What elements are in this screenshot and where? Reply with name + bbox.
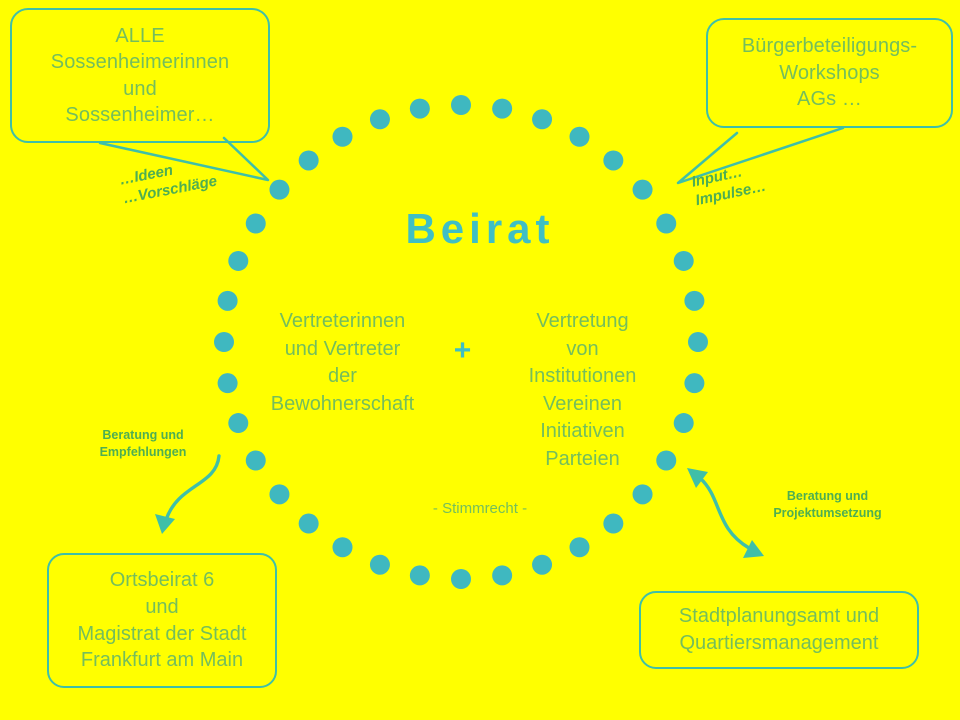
ring-dot [570,127,590,147]
ring-dot [214,332,234,352]
speech-bubble-citizens-text: ALLE Sossenheimerinnen und Sossenheimer… [51,23,229,129]
ring-dot [684,291,704,311]
speech-bubble-citizens[interactable]: ALLE Sossenheimerinnen und Sossenheimer… [10,8,270,143]
ring-dot [299,150,319,170]
ring-dot [218,373,238,393]
ring-dot [492,565,512,585]
ring-dot [633,180,653,200]
ring-dot [333,537,353,557]
ring-dot [228,251,248,271]
arrow-label-beratung-empfehlungen: Beratung und Empfehlungen [78,427,208,461]
diagram-canvas: ALLE Sossenheimerinnen und Sossenheimer…… [0,0,960,720]
ring-dot [269,180,289,200]
ring-dot [570,537,590,557]
ring-dot [333,127,353,147]
ring-dot [684,373,704,393]
page-title: Beirat [0,205,960,253]
tail-label-input: Input… Impulse… [690,159,768,211]
arrow-label-beratung-projektumsetzung: Beratung und Projektumsetzung [745,488,910,522]
ring-dot [451,569,471,589]
ring-dot [532,109,552,129]
box-stadtplanung[interactable]: Stadtplanungsamt und Quartiersmanagement [639,591,919,669]
speech-bubble-workshops[interactable]: Bürgerbeteiligungs- Workshops AGs … [706,18,953,128]
ring-dot [674,251,694,271]
ring-dot [410,565,430,585]
box-ortsbeirat-text: Ortsbeirat 6 und Magistrat der Stadt Fra… [78,567,247,674]
tail-label-ideen: …Ideen …Vorschläge [118,154,219,209]
ring-dot [370,109,390,129]
column-residents: Vertreterinnen und Vertreter der Bewohne… [255,308,430,418]
box-stadtplanung-text: Stadtplanungsamt und Quartiersmanagement [679,603,879,657]
ring-dot [218,291,238,311]
ring-dot [603,150,623,170]
ring-dot [451,95,471,115]
ring-dot [370,555,390,575]
plus-icon: + [454,336,472,366]
speech-bubble-workshops-text: Bürgerbeteiligungs- Workshops AGs … [742,33,917,112]
ring-dot [492,99,512,119]
ring-dot [532,555,552,575]
box-ortsbeirat[interactable]: Ortsbeirat 6 und Magistrat der Stadt Fra… [47,553,277,688]
ring-dot [228,413,248,433]
column-institutions: Vertretung von Institutionen Vereinen In… [495,308,670,474]
membership-columns: Vertreterinnen und Vertreter der Bewohne… [255,308,670,474]
ring-dot [688,332,708,352]
arrow-beratung-empfehlungen [155,456,219,534]
ring-dot [674,413,694,433]
ring-dot [410,99,430,119]
